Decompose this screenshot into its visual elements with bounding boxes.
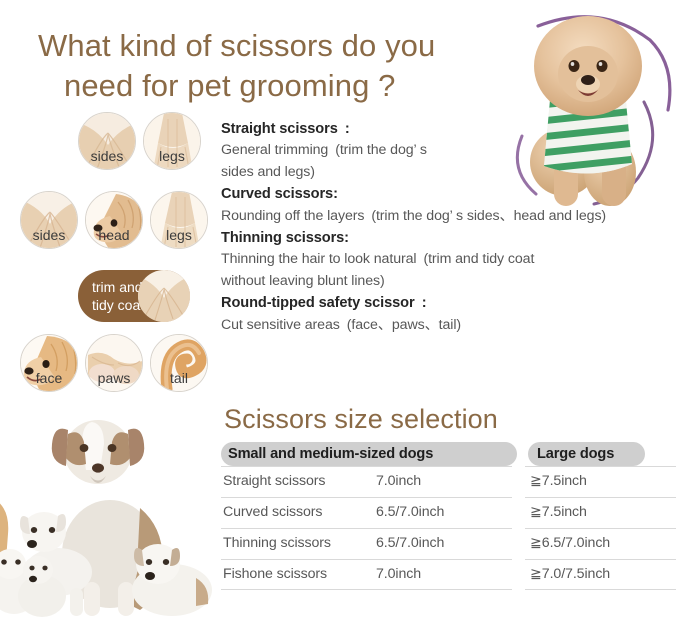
table-row: Curved scissors 6.5/7.0inch ≧7.5inch bbox=[221, 497, 676, 528]
badge-tail: tail bbox=[150, 334, 208, 392]
cell-small-medium-size: 7.0inch bbox=[376, 466, 421, 497]
cell-small-medium-size: 6.5/7.0inch bbox=[376, 497, 444, 528]
badge-paws: paws bbox=[85, 334, 143, 392]
badge-label: paws bbox=[86, 371, 142, 385]
table-header-small-medium-dogs: Small and medium-sized dogs bbox=[221, 442, 517, 466]
badge-label: sides bbox=[79, 149, 135, 163]
badge-label: legs bbox=[144, 149, 200, 163]
cell-scissor-type: Thinning scissors bbox=[223, 528, 331, 559]
cell-small-medium-size: 6.5/7.0inch bbox=[376, 528, 444, 559]
badge-legs: legs bbox=[150, 191, 208, 249]
desc-heading-round-tipped: Round-tipped safety scissor : bbox=[221, 292, 679, 314]
cell-scissor-type: Fishone scissors bbox=[223, 559, 327, 590]
cell-large-size: ≧7.5inch bbox=[530, 466, 587, 497]
cell-scissor-type: Straight scissors bbox=[223, 466, 325, 497]
desc-heading-thinning: Thinning scissors: bbox=[221, 227, 679, 249]
page-title-line-2: need for pet grooming ? bbox=[38, 66, 528, 106]
table-row: Fishone scissors 7.0inch ≧7.0/7.5inch bbox=[221, 559, 676, 590]
cell-small-medium-size: 7.0inch bbox=[376, 559, 421, 590]
table-header-row: Small and medium-sized dogs Large dogs bbox=[221, 442, 676, 466]
body-area-badges: sides legs bbox=[0, 112, 215, 402]
table-row: Straight scissors 7.0inch ≧7.5inch bbox=[221, 466, 676, 497]
badge-image-dog-coat bbox=[138, 270, 190, 322]
desc-text-curved-line-1: Rounding off the layers (trim the dog’ s… bbox=[221, 206, 679, 228]
infographic-page: What kind of scissors do you need for pe… bbox=[0, 0, 679, 618]
badge-face: face bbox=[20, 334, 78, 392]
cell-large-size: ≧7.5inch bbox=[530, 497, 587, 528]
desc-text-straight-line-2: sides and legs) bbox=[221, 162, 679, 184]
badge-label-line-2: tidy coat bbox=[92, 297, 144, 313]
badge-label: tail bbox=[151, 371, 207, 385]
desc-heading-straight: Straight scissors : bbox=[221, 118, 679, 140]
section-title: Scissors size selection bbox=[224, 405, 676, 435]
scissors-size-table-section: Scissors size selection Small and medium… bbox=[221, 405, 676, 590]
desc-text-round-tipped-line-1: Cut sensitive areas (face、paws、tail) bbox=[221, 315, 679, 337]
cell-large-size: ≧7.0/7.5inch bbox=[530, 559, 610, 590]
dog-group-image bbox=[0, 404, 212, 618]
cell-large-size: ≧6.5/7.0inch bbox=[530, 528, 610, 559]
page-title-line-1: What kind of scissors do you bbox=[38, 28, 435, 63]
badge-label: head bbox=[86, 228, 142, 242]
desc-text-straight-line-1: General trimming (trim the dog’ s bbox=[221, 140, 679, 162]
desc-heading-curved: Curved scissors: bbox=[221, 183, 679, 205]
scissor-descriptions: Straight scissors : General trimming (tr… bbox=[221, 118, 679, 336]
page-title: What kind of scissors do you need for pe… bbox=[38, 26, 528, 105]
badge-sides: sides bbox=[20, 191, 78, 249]
badge-label-line-1: trim and bbox=[92, 279, 143, 295]
badge-sides: sides bbox=[78, 112, 136, 170]
table-header-large-dogs: Large dogs bbox=[528, 442, 645, 466]
badge-label: face bbox=[21, 371, 77, 385]
table-row: Thinning scissors 6.5/7.0inch ≧6.5/7.0in… bbox=[221, 528, 676, 559]
badge-head: head bbox=[85, 191, 143, 249]
badge-legs: legs bbox=[143, 112, 201, 170]
cell-scissor-type: Curved scissors bbox=[223, 497, 322, 528]
badge-label: sides bbox=[21, 228, 77, 242]
desc-text-thinning-line-2: without leaving blunt lines) bbox=[221, 271, 679, 293]
badge-label: legs bbox=[151, 228, 207, 242]
desc-text-thinning-line-1: Thinning the hair to look natural (trim … bbox=[221, 249, 679, 271]
